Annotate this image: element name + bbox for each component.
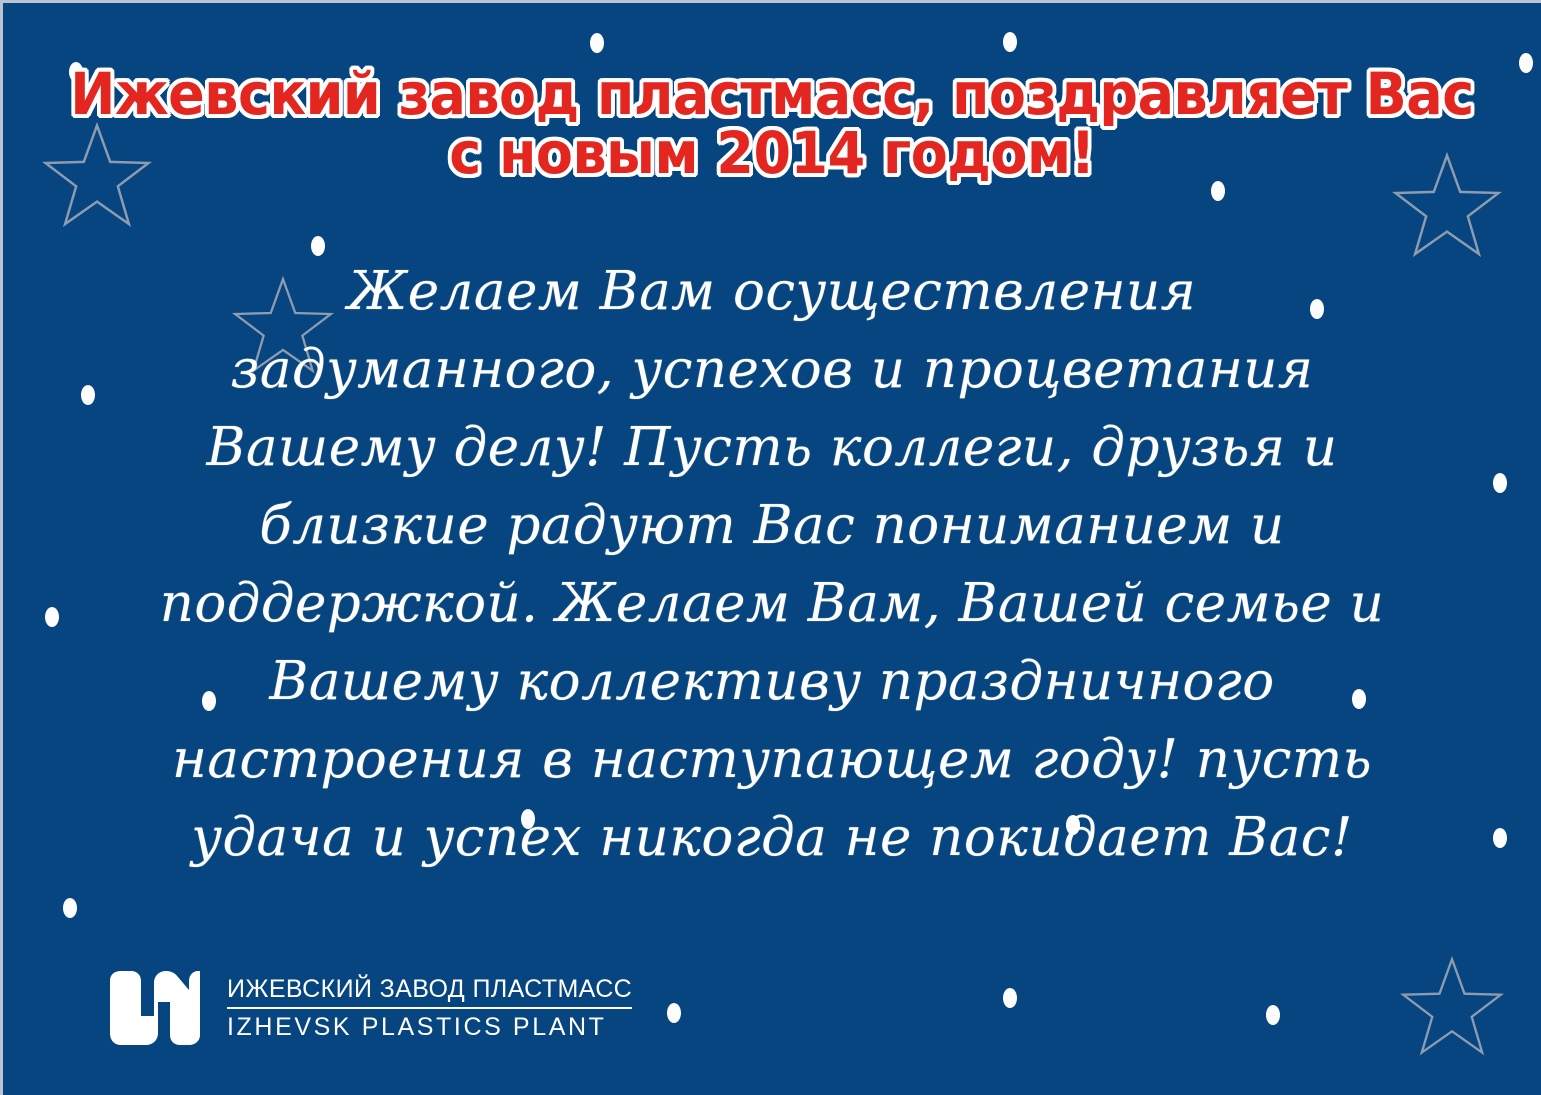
logo-wordmark: ИЖЕВСКИЙ ЗАВОД ПЛАСТМАСС IZHEVSK PLASTIC…	[227, 975, 632, 1041]
greeting-line: удача и успех никогда не покидает Вас!	[98, 799, 1446, 877]
new-year-greeting-card: Ижевский завод пластмасс, поздравляет Ва…	[0, 0, 1541, 1095]
greeting-line: поддержкой. Желаем Вам, Вашей семье и	[98, 565, 1446, 643]
greeting-line: Вашему коллективу праздничного	[98, 643, 1446, 721]
greeting-text: Желаем Вам осуществлениязадуманного, усп…	[98, 253, 1446, 877]
dot-16	[63, 898, 77, 918]
greeting-line: Желаем Вам осуществления	[98, 253, 1446, 331]
title-line-2: с новым 2014 годом!	[57, 124, 1487, 183]
dot-9	[1493, 473, 1507, 493]
greeting-line: настроения в наступающем году! пусть	[98, 721, 1446, 799]
dot-17	[667, 1003, 681, 1023]
greeting-line: задуманного, успехов и процветания	[98, 331, 1446, 409]
dot-19	[1266, 1005, 1280, 1025]
star-bottom-right-icon	[1399, 955, 1505, 1061]
dot-8	[81, 385, 95, 405]
dot-2	[590, 33, 604, 53]
dot-18	[1003, 988, 1017, 1008]
title-line-1: Ижевский завод пластмасс, поздравляет Ва…	[57, 65, 1487, 124]
dot-10	[45, 607, 59, 627]
logo-name-en: IZHEVSK PLASTICS PLANT	[227, 1013, 632, 1041]
dot-6	[1211, 181, 1225, 201]
greeting-line: близкие радуют Вас пониманием и	[98, 487, 1446, 565]
dot-3	[1003, 32, 1017, 52]
greeting-line: Вашему делу! Пусть коллеги, друзья и	[98, 409, 1446, 487]
company-logo: ИЖЕВСКИЙ ЗАВОД ПЛАСТМАСС IZHEVSK PLASTIC…	[107, 969, 632, 1047]
page-title: Ижевский завод пластмасс, поздравляет Ва…	[3, 65, 1541, 183]
logo-name-ru: ИЖЕВСКИЙ ЗАВОД ПЛАСТМАСС	[227, 975, 632, 1003]
izhevsk-plastics-plant-monogram-icon	[107, 969, 203, 1047]
dot-13	[1493, 828, 1507, 848]
logo-divider	[227, 1007, 632, 1009]
